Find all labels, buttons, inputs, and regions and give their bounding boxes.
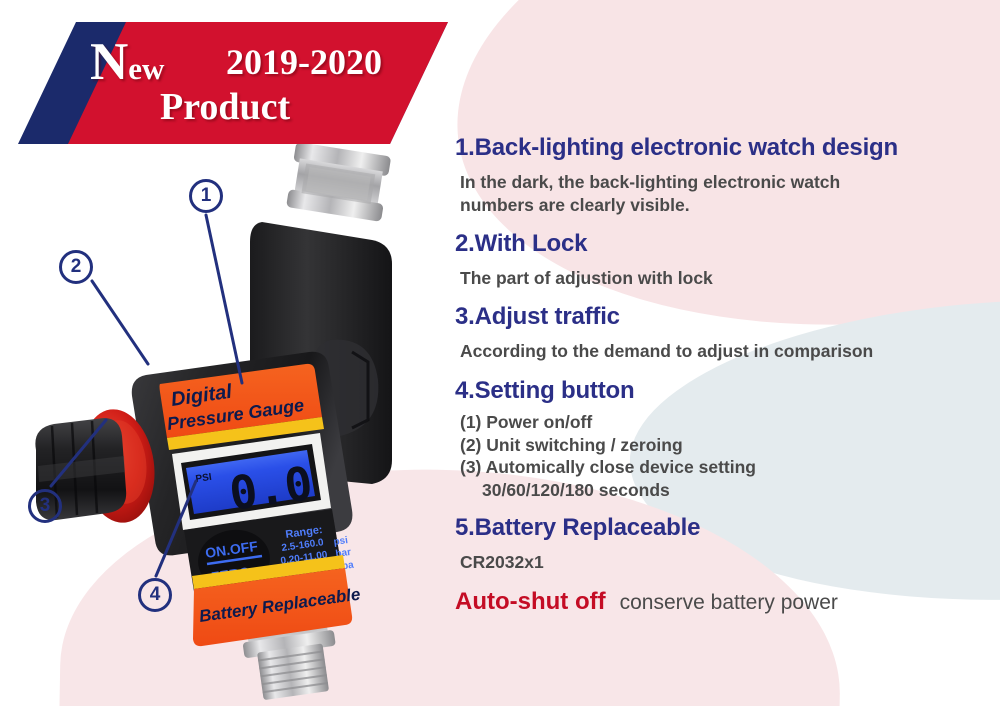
- lcd-value: 0.0: [226, 456, 316, 521]
- feature-3-body: According to the demand to adjust in com…: [455, 340, 990, 363]
- feature-1-heading: 1.Back-lighting electronic watch design: [455, 134, 990, 162]
- banner-new-word: New: [90, 36, 164, 89]
- callout-badge-2[interactable]: 2: [59, 250, 93, 284]
- auto-shut-off-text: conserve battery power: [620, 591, 838, 615]
- infographic-page: New 2019-2020 Product: [0, 0, 1000, 706]
- feature-4-body-line-1: (1) Power on/off: [460, 412, 592, 432]
- spec-row-0-unit: psi: [333, 535, 349, 548]
- new-product-banner: New 2019-2020 Product: [18, 22, 448, 144]
- feature-list: 1.Back-lighting electronic watch design …: [455, 134, 990, 616]
- banner-new-rest: ew: [128, 51, 164, 86]
- pressure-gauge-svg: Digital Pressure Gauge PSI 0.0 ON.OFF ZE…: [0, 130, 450, 706]
- feature-5-heading: 5.Battery Replaceable: [455, 514, 990, 542]
- feature-2-body: The part of adjustion with lock: [455, 267, 990, 290]
- banner-product-word: Product: [160, 88, 290, 126]
- feature-1-body: In the dark, the back-lighting electroni…: [455, 171, 990, 218]
- callout-badge-3[interactable]: 3: [28, 489, 62, 523]
- product-illustration: Digital Pressure Gauge PSI 0.0 ON.OFF ZE…: [0, 130, 450, 706]
- feature-5-body-line-1: CR2032x1: [460, 552, 544, 572]
- feature-2-body-line-1: The part of adjustion with lock: [460, 268, 713, 288]
- auto-shut-off-footer: Auto-shut off conserve battery power: [455, 588, 990, 616]
- feature-5-body: CR2032x1: [455, 551, 990, 574]
- callout-badge-4[interactable]: 4: [138, 578, 172, 612]
- feature-3-body-line-1: According to the demand to adjust in com…: [460, 341, 873, 361]
- banner-text-group: New 2019-2020 Product: [18, 22, 448, 144]
- feature-4-body: (1) Power on/off (2) Unit switching / ze…: [455, 411, 990, 501]
- feature-4-body-line-4: 30/60/120/180 seconds: [460, 479, 990, 501]
- feature-1-body-line-1: In the dark, the back-lighting electroni…: [460, 172, 840, 192]
- lcd-unit-label: PSI: [195, 472, 213, 485]
- feature-1-body-line-2: numbers are clearly visible.: [460, 195, 690, 215]
- feature-4-body-line-3: (3) Automically close device setting: [460, 457, 756, 477]
- feature-4-heading: 4.Setting button: [455, 377, 990, 405]
- feature-3-heading: 3.Adjust traffic: [455, 303, 990, 331]
- feature-4-body-line-2: (2) Unit switching / zeroing: [460, 435, 683, 455]
- auto-shut-off-highlight: Auto-shut off: [455, 588, 606, 616]
- feature-2-heading: 2.With Lock: [455, 230, 990, 258]
- callout-badge-1[interactable]: 1: [189, 179, 223, 213]
- banner-new-capital: N: [90, 33, 128, 91]
- top-chrome-fitting: [286, 142, 391, 222]
- banner-years: 2019-2020: [226, 44, 382, 80]
